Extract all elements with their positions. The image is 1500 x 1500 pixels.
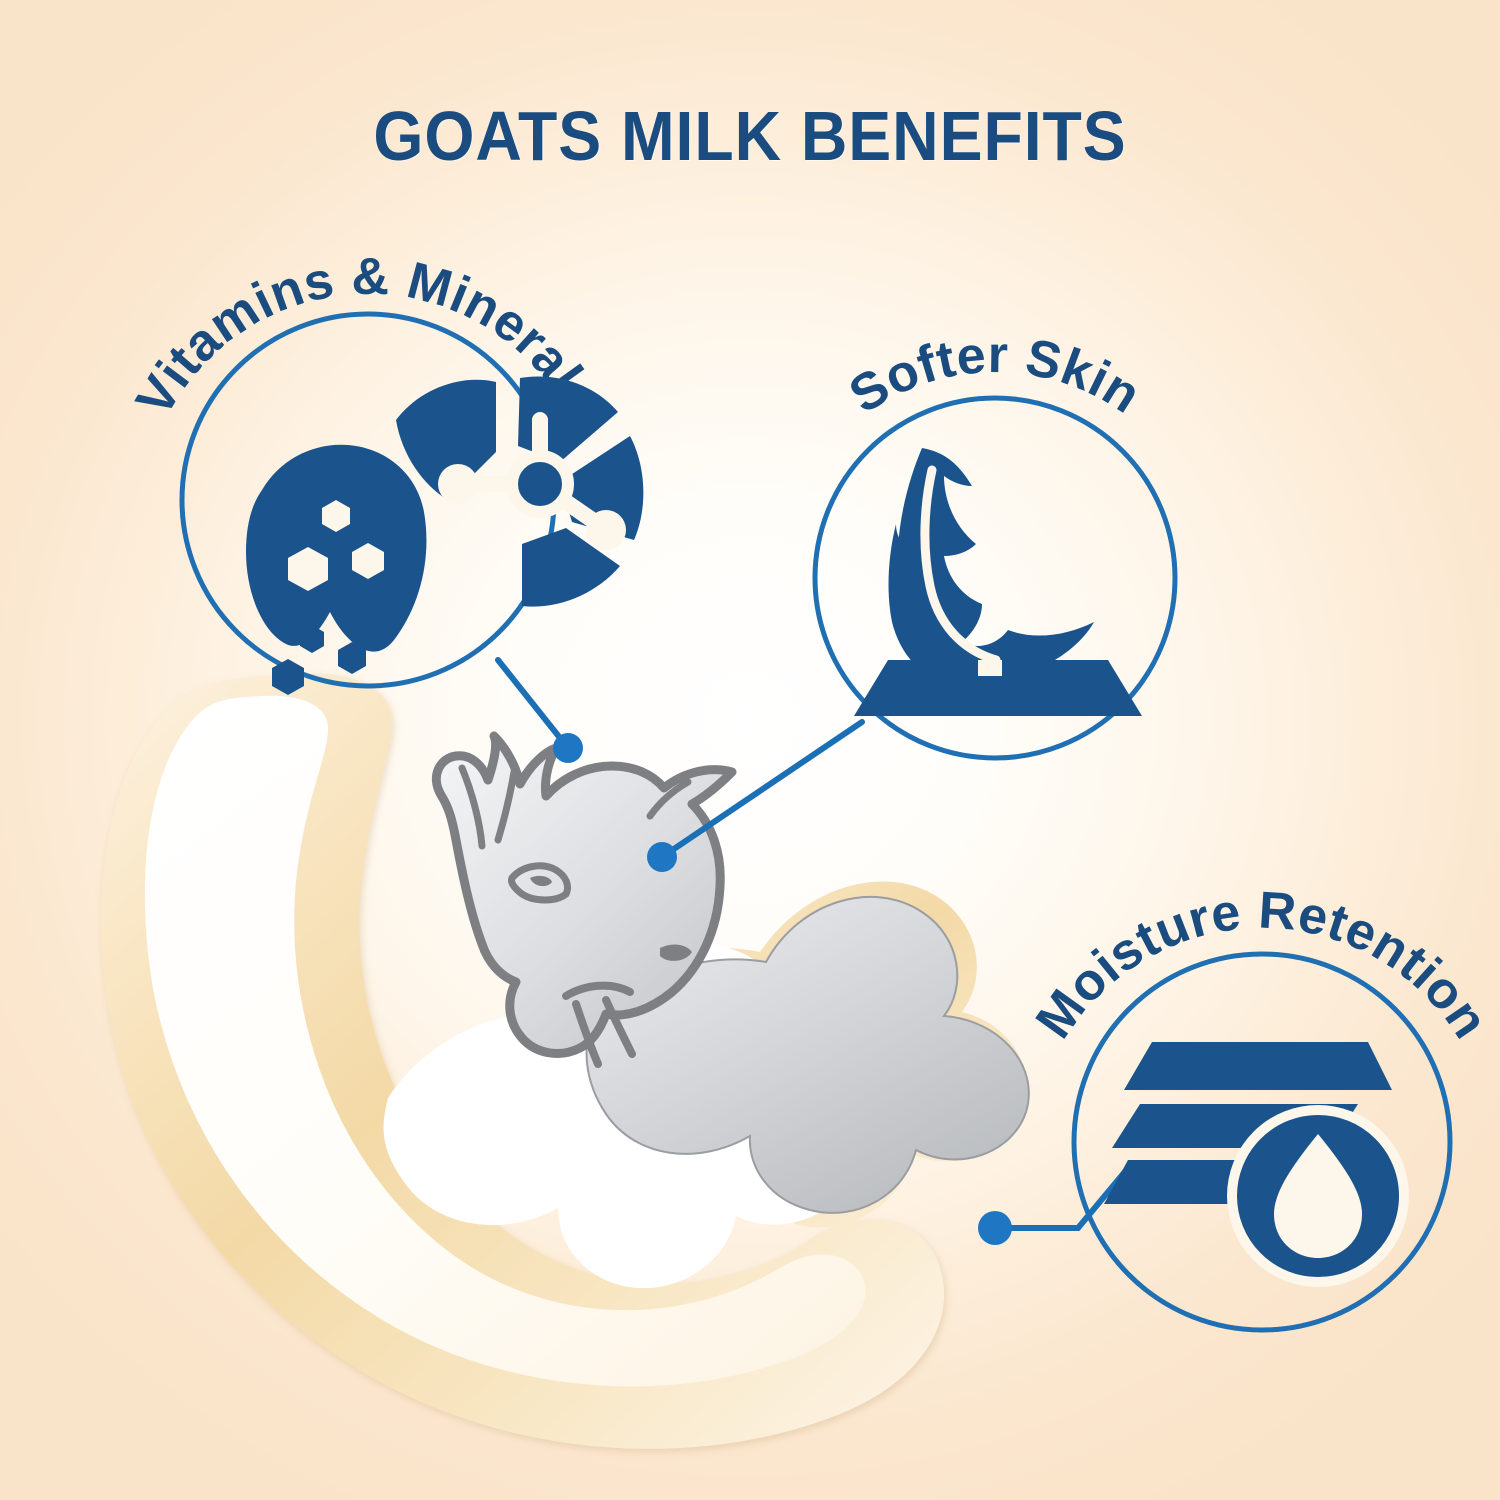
connector-dot-vitamins [553, 733, 583, 763]
benefit-label-softer-skin: Softer Skin [840, 326, 1151, 425]
infographic-stage: Vitamins & Minerals [0, 0, 1500, 1500]
connector-dot-softer-skin [647, 842, 677, 872]
feather-on-surface-icon [854, 448, 1142, 716]
goat-milk-illustration [101, 674, 1029, 1449]
benefit-label-moisture: Moisture Retention [1025, 881, 1499, 1048]
connector-dot-moisture [978, 1211, 1012, 1245]
molecule-pill-hexagons-icon [246, 376, 643, 695]
benefit-vitamins-minerals[interactable]: Vitamins & Minerals [125, 248, 643, 695]
benefit-moisture-retention[interactable]: Moisture Retention [1025, 881, 1499, 1330]
connector-vitamins [498, 660, 568, 748]
layers-water-droplet-icon [1104, 1042, 1404, 1282]
benefit-softer-skin[interactable]: Softer Skin [815, 326, 1175, 758]
infographic-canvas: GOATS MILK BENEFITS [0, 0, 1500, 1500]
